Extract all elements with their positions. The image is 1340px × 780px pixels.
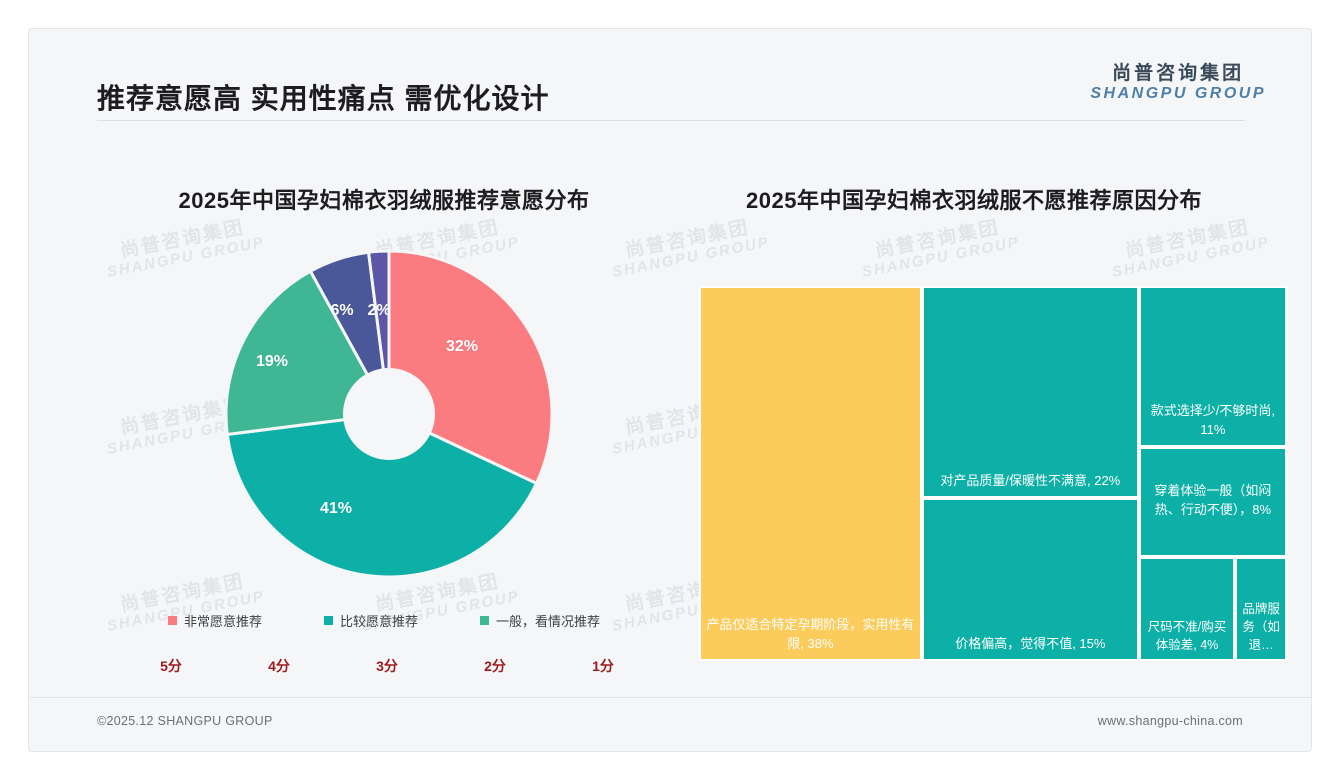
treemap-cell-label: 尺码不准/购买体验差, 4% (1141, 614, 1233, 659)
brand-logo: 尚普咨询集团 SHANGPU GROUP (1090, 64, 1266, 103)
donut-legend: 非常愿意推荐比较愿意推荐一般，看情况推荐 (89, 611, 679, 630)
score-label: 2分 (441, 656, 549, 676)
donut-slice-label: 19% (256, 353, 288, 371)
score-label: 4分 (225, 656, 333, 676)
slide-canvas: 推荐意愿高 实用性痛点 需优化设计 尚普咨询集团 SHANGPU GROUP 尚… (28, 28, 1312, 752)
treemap-chart-title: 2025年中国孕妇棉衣羽绒服不愿推荐原因分布 (684, 183, 1264, 215)
donut-chart: 32%41%19%6%2% (224, 249, 554, 579)
logo-chinese-text: 尚普咨询集团 (1090, 64, 1266, 84)
logo-english-text: SHANGPU GROUP (1090, 86, 1266, 103)
treemap-cell[interactable]: 产品仅适合特定孕期阶段，实用性有限, 38% (699, 286, 922, 661)
donut-svg (224, 249, 554, 579)
treemap-chart: 产品仅适合特定孕期阶段，实用性有限, 38%对产品质量/保暖性不满意, 22%价… (699, 286, 1287, 661)
treemap-cell[interactable]: 价格偏高，觉得不值, 15% (922, 498, 1139, 661)
donut-chart-panel: 2025年中国孕妇棉衣羽绒服推荐意愿分布 32%41%19%6%2% 非常愿意推… (89, 121, 679, 699)
donut-slice-label: 32% (446, 338, 478, 356)
treemap-cell[interactable]: 品牌服务（如退… (1235, 557, 1287, 661)
score-axis: 5分4分3分2分1分 (117, 656, 657, 676)
donut-hole (343, 368, 435, 460)
slide-header: 推荐意愿高 实用性痛点 需优化设计 尚普咨询集团 SHANGPU GROUP (29, 29, 1311, 121)
treemap-cell[interactable]: 穿着体验一般（如闷热、行动不便），8% (1139, 447, 1287, 558)
legend-item[interactable]: 比较愿意推荐 (324, 611, 418, 630)
legend-item[interactable]: 非常愿意推荐 (168, 611, 262, 630)
legend-swatch-icon (480, 616, 489, 625)
legend-swatch-icon (168, 616, 177, 625)
page-title: 推荐意愿高 实用性痛点 需优化设计 (97, 77, 550, 117)
slide-footer: ©2025.12 SHANGPU GROUP www.shangpu-china… (29, 697, 1311, 751)
treemap-cell[interactable]: 尺码不准/购买体验差, 4% (1139, 557, 1235, 661)
legend-swatch-icon (324, 616, 333, 625)
website-link[interactable]: www.shangpu-china.com (1098, 714, 1243, 728)
legend-item-label: 比较愿意推荐 (340, 611, 418, 630)
treemap-cell[interactable]: 款式选择少/不够时尚, 11% (1139, 286, 1287, 447)
treemap-cell[interactable]: 对产品质量/保暖性不满意, 22% (922, 286, 1139, 498)
slide-body: 尚普咨询集团SHANGPU GROUP尚普咨询集团SHANGPU GROUP尚普… (29, 121, 1311, 699)
donut-chart-title: 2025年中国孕妇棉衣羽绒服推荐意愿分布 (89, 183, 679, 215)
treemap-cell-label: 款式选择少/不够时尚, 11% (1141, 398, 1285, 445)
legend-item-label: 一般，看情况推荐 (496, 611, 600, 630)
legend-item[interactable]: 一般，看情况推荐 (480, 611, 600, 630)
treemap-cell-label: 价格偏高，觉得不值, 15% (950, 631, 1110, 659)
score-label: 5分 (117, 656, 225, 676)
treemap-cell-label: 穿着体验一般（如闷热、行动不便），8% (1141, 478, 1285, 525)
donut-slice-label: 2% (367, 302, 390, 320)
treemap-cell-label: 品牌服务（如退… (1237, 596, 1285, 659)
treemap-chart-panel: 2025年中国孕妇棉衣羽绒服不愿推荐原因分布 产品仅适合特定孕期阶段，实用性有限… (684, 121, 1264, 699)
score-label: 1分 (549, 656, 657, 676)
score-label: 3分 (333, 656, 441, 676)
treemap-cell-label: 产品仅适合特定孕期阶段，实用性有限, 38% (701, 612, 920, 659)
donut-slice-label: 6% (330, 302, 353, 320)
copyright-text: ©2025.12 SHANGPU GROUP (97, 714, 273, 728)
legend-item-label: 非常愿意推荐 (184, 611, 262, 630)
treemap-cell-label: 对产品质量/保暖性不满意, 22% (935, 468, 1125, 496)
donut-slice-label: 41% (320, 500, 352, 518)
